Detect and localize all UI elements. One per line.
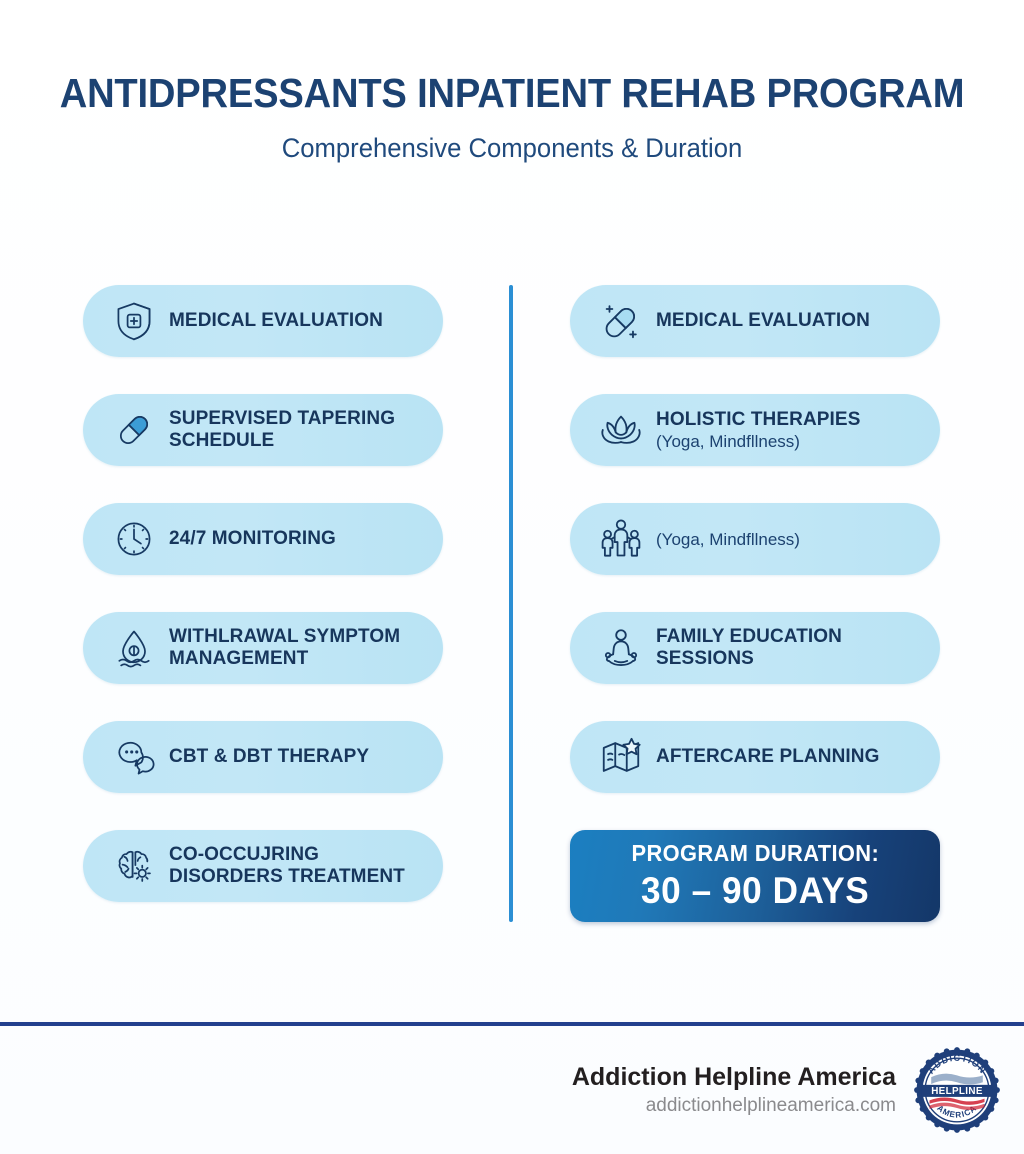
helpline-seal-logo: ADDICTION AMERICA HELPLINE <box>914 1047 1000 1133</box>
svg-text:HELPLINE: HELPLINE <box>931 1086 983 1097</box>
component-pill[interactable]: 24/7 MONITORING <box>83 503 443 575</box>
page-title: ANTIDPRESSANTS INPATIENT REHAB PROGRAM <box>36 70 988 116</box>
component-label-block: (Yoga, Mindfllness) <box>656 529 814 550</box>
duration-label: PROGRAM DURATION: <box>631 840 879 867</box>
component-label: CO-OCCUJRING DISORDERS TREATMENT <box>169 844 429 888</box>
water-drop-icon <box>103 626 165 670</box>
component-sublabel: (Yoga, Mindfllness) <box>656 431 860 452</box>
duration-value: 30 – 90 DAYS <box>641 870 869 912</box>
component-pill[interactable]: CO-OCCUJRING DISORDERS TREATMENT <box>83 830 443 902</box>
component-pill[interactable]: AFTERCARE PLANNING <box>570 721 940 793</box>
component-label-block: FAMILY EDUCATION SESSIONS <box>656 626 940 670</box>
brand-website: addictionhelplineamerica.com <box>572 1094 896 1118</box>
program-duration-badge: PROGRAM DURATION:30 – 90 DAYS <box>570 830 940 922</box>
capsule-plus-icon <box>590 298 652 344</box>
left-component-list: MEDICAL EVALUATIONSUPERVISED TAPERING SC… <box>83 285 443 939</box>
component-label: CBT & DBT THERAPY <box>169 746 369 768</box>
component-label: 24/7 MONITORING <box>169 528 336 550</box>
speech-bubbles-icon <box>103 735 165 779</box>
component-label: WITHLRAWAL SYMPTOM MANAGEMENT <box>169 626 429 670</box>
meditation-icon <box>590 625 652 671</box>
component-pill[interactable]: FAMILY EDUCATION SESSIONS <box>570 612 940 684</box>
component-label-block: WITHLRAWAL SYMPTOM MANAGEMENT <box>169 626 443 670</box>
map-star-icon <box>590 734 652 780</box>
component-label: MEDICAL EVALUATION <box>656 310 870 332</box>
component-label: AFTERCARE PLANNING <box>656 746 879 768</box>
right-component-list: MEDICAL EVALUATIONHOLISTIC THERAPIES(Yog… <box>570 285 940 922</box>
component-label: MEDICAL EVALUATION <box>169 310 383 332</box>
family-icon <box>590 516 652 562</box>
lotus-icon <box>590 407 652 453</box>
component-label: SUPERVISED TAPERING SCHEDULE <box>169 408 429 452</box>
component-label-block: CBT & DBT THERAPY <box>169 746 383 768</box>
infographic-page: ANTIDPRESSANTS INPATIENT REHAB PROGRAM C… <box>0 0 1024 1154</box>
component-pill[interactable]: MEDICAL EVALUATION <box>570 285 940 357</box>
page-subtitle: Comprehensive Components & Duration <box>26 132 999 164</box>
footer: Addiction Helpline America addictionhelp… <box>0 1026 1024 1154</box>
component-label-block: CO-OCCUJRING DISORDERS TREATMENT <box>169 844 443 888</box>
component-label-block: HOLISTIC THERAPIES(Yoga, Mindfllness) <box>656 409 874 452</box>
components-columns: MEDICAL EVALUATIONSUPERVISED TAPERING SC… <box>0 285 1024 930</box>
component-label-block: AFTERCARE PLANNING <box>656 746 893 768</box>
component-label-block: MEDICAL EVALUATION <box>656 310 884 332</box>
component-pill[interactable]: SUPERVISED TAPERING SCHEDULE <box>83 394 443 466</box>
footer-text-block: Addiction Helpline America addictionhelp… <box>572 1062 896 1118</box>
component-label: FAMILY EDUCATION SESSIONS <box>656 626 926 670</box>
component-label-block: SUPERVISED TAPERING SCHEDULE <box>169 408 443 452</box>
pill-capsule-icon <box>103 408 165 452</box>
shield-medical-icon <box>103 299 165 343</box>
component-sublabel: (Yoga, Mindfllness) <box>656 529 800 550</box>
component-pill[interactable]: WITHLRAWAL SYMPTOM MANAGEMENT <box>83 612 443 684</box>
component-pill[interactable]: CBT & DBT THERAPY <box>83 721 443 793</box>
component-pill[interactable]: MEDICAL EVALUATION <box>83 285 443 357</box>
component-label-block: MEDICAL EVALUATION <box>169 310 397 332</box>
component-label: HOLISTIC THERAPIES <box>656 409 860 431</box>
component-pill[interactable]: (Yoga, Mindfllness) <box>570 503 940 575</box>
header: ANTIDPRESSANTS INPATIENT REHAB PROGRAM C… <box>0 0 1024 164</box>
brand-name: Addiction Helpline America <box>572 1062 896 1092</box>
component-label-block: 24/7 MONITORING <box>169 528 350 550</box>
component-pill[interactable]: HOLISTIC THERAPIES(Yoga, Mindfllness) <box>570 394 940 466</box>
brain-gear-icon <box>103 844 165 888</box>
clock-icon <box>103 517 165 561</box>
column-divider <box>509 285 513 922</box>
